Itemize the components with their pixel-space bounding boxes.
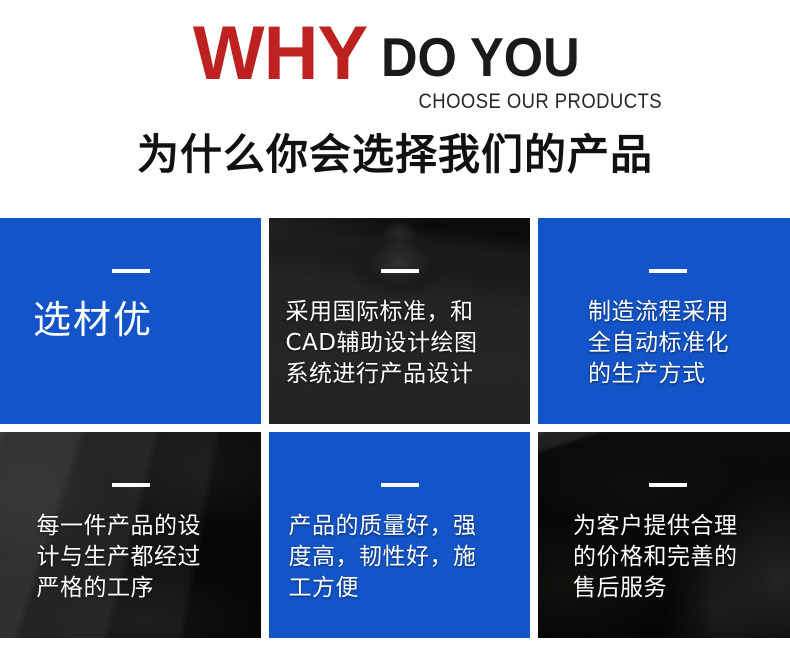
feature-card-manufacturing[interactable]: 制造流程采用 全自动标准化 的生产方式 [538,218,790,424]
feature-card-content: 产品的质量好，强 度高，韧性好，施 工方便 [269,432,530,604]
divider-dash-icon [112,483,150,487]
feature-card-content: 为客户提供合理 的价格和完善的 售后服务 [538,432,790,604]
feature-card-service[interactable]: 为客户提供合理 的价格和完善的 售后服务 [538,432,790,638]
divider-dash-icon [649,483,687,487]
divider-dash-icon [112,269,150,273]
divider-dash-icon [381,483,419,487]
feature-card-design[interactable]: 采用国际标准，和 CAD辅助设计绘图 系统进行产品设计 [269,218,530,424]
feature-grid: 选材优 采用国际标准，和 CAD辅助设计绘图 系统进行产品设计 制造流程采用 全… [0,218,782,638]
promo-banner-page: WHY DO YOU CHOOSE OUR PRODUCTS 为什么你会选择我们… [0,0,790,665]
feature-card-process[interactable]: 每一件产品的设 计与生产都经过 严格的工序 [0,432,261,638]
feature-card-text: 采用国际标准，和 CAD辅助设计绘图 系统进行产品设计 [286,297,514,390]
divider-dash-icon [381,269,419,273]
feature-card-material[interactable]: 选材优 [0,218,261,424]
headline-subtitle-english: CHOOSE OUR PRODUCTS [79,90,662,114]
feature-card-quality[interactable]: 产品的质量好，强 度高，韧性好，施 工方便 [269,432,530,638]
headline-row: WHY DO YOU [0,18,790,90]
feature-card-content: 每一件产品的设 计与生产都经过 严格的工序 [0,432,261,604]
banner-header: WHY DO YOU CHOOSE OUR PRODUCTS 为什么你会选择我们… [0,0,790,218]
headline-why: WHY [193,18,367,90]
footer-whitespace [0,638,790,665]
feature-card-text: 产品的质量好，强 度高，韧性好，施 工方便 [289,511,511,604]
feature-card-text: 制造流程采用 全自动标准化 的生产方式 [588,297,748,390]
headline-subtitle-chinese: 为什么你会选择我们的产品 [0,128,790,182]
feature-card-content: 采用国际标准，和 CAD辅助设计绘图 系统进行产品设计 [269,218,530,390]
feature-card-text: 为客户提供合理 的价格和完善的 售后服务 [573,511,763,604]
feature-card-text: 每一件产品的设 计与生产都经过 严格的工序 [37,511,225,604]
feature-card-content: 选材优 [0,218,261,343]
feature-card-content: 制造流程采用 全自动标准化 的生产方式 [538,218,790,390]
headline-do-you: DO YOU [381,27,580,87]
divider-dash-icon [649,269,687,273]
feature-card-text: 选材优 [33,297,228,343]
